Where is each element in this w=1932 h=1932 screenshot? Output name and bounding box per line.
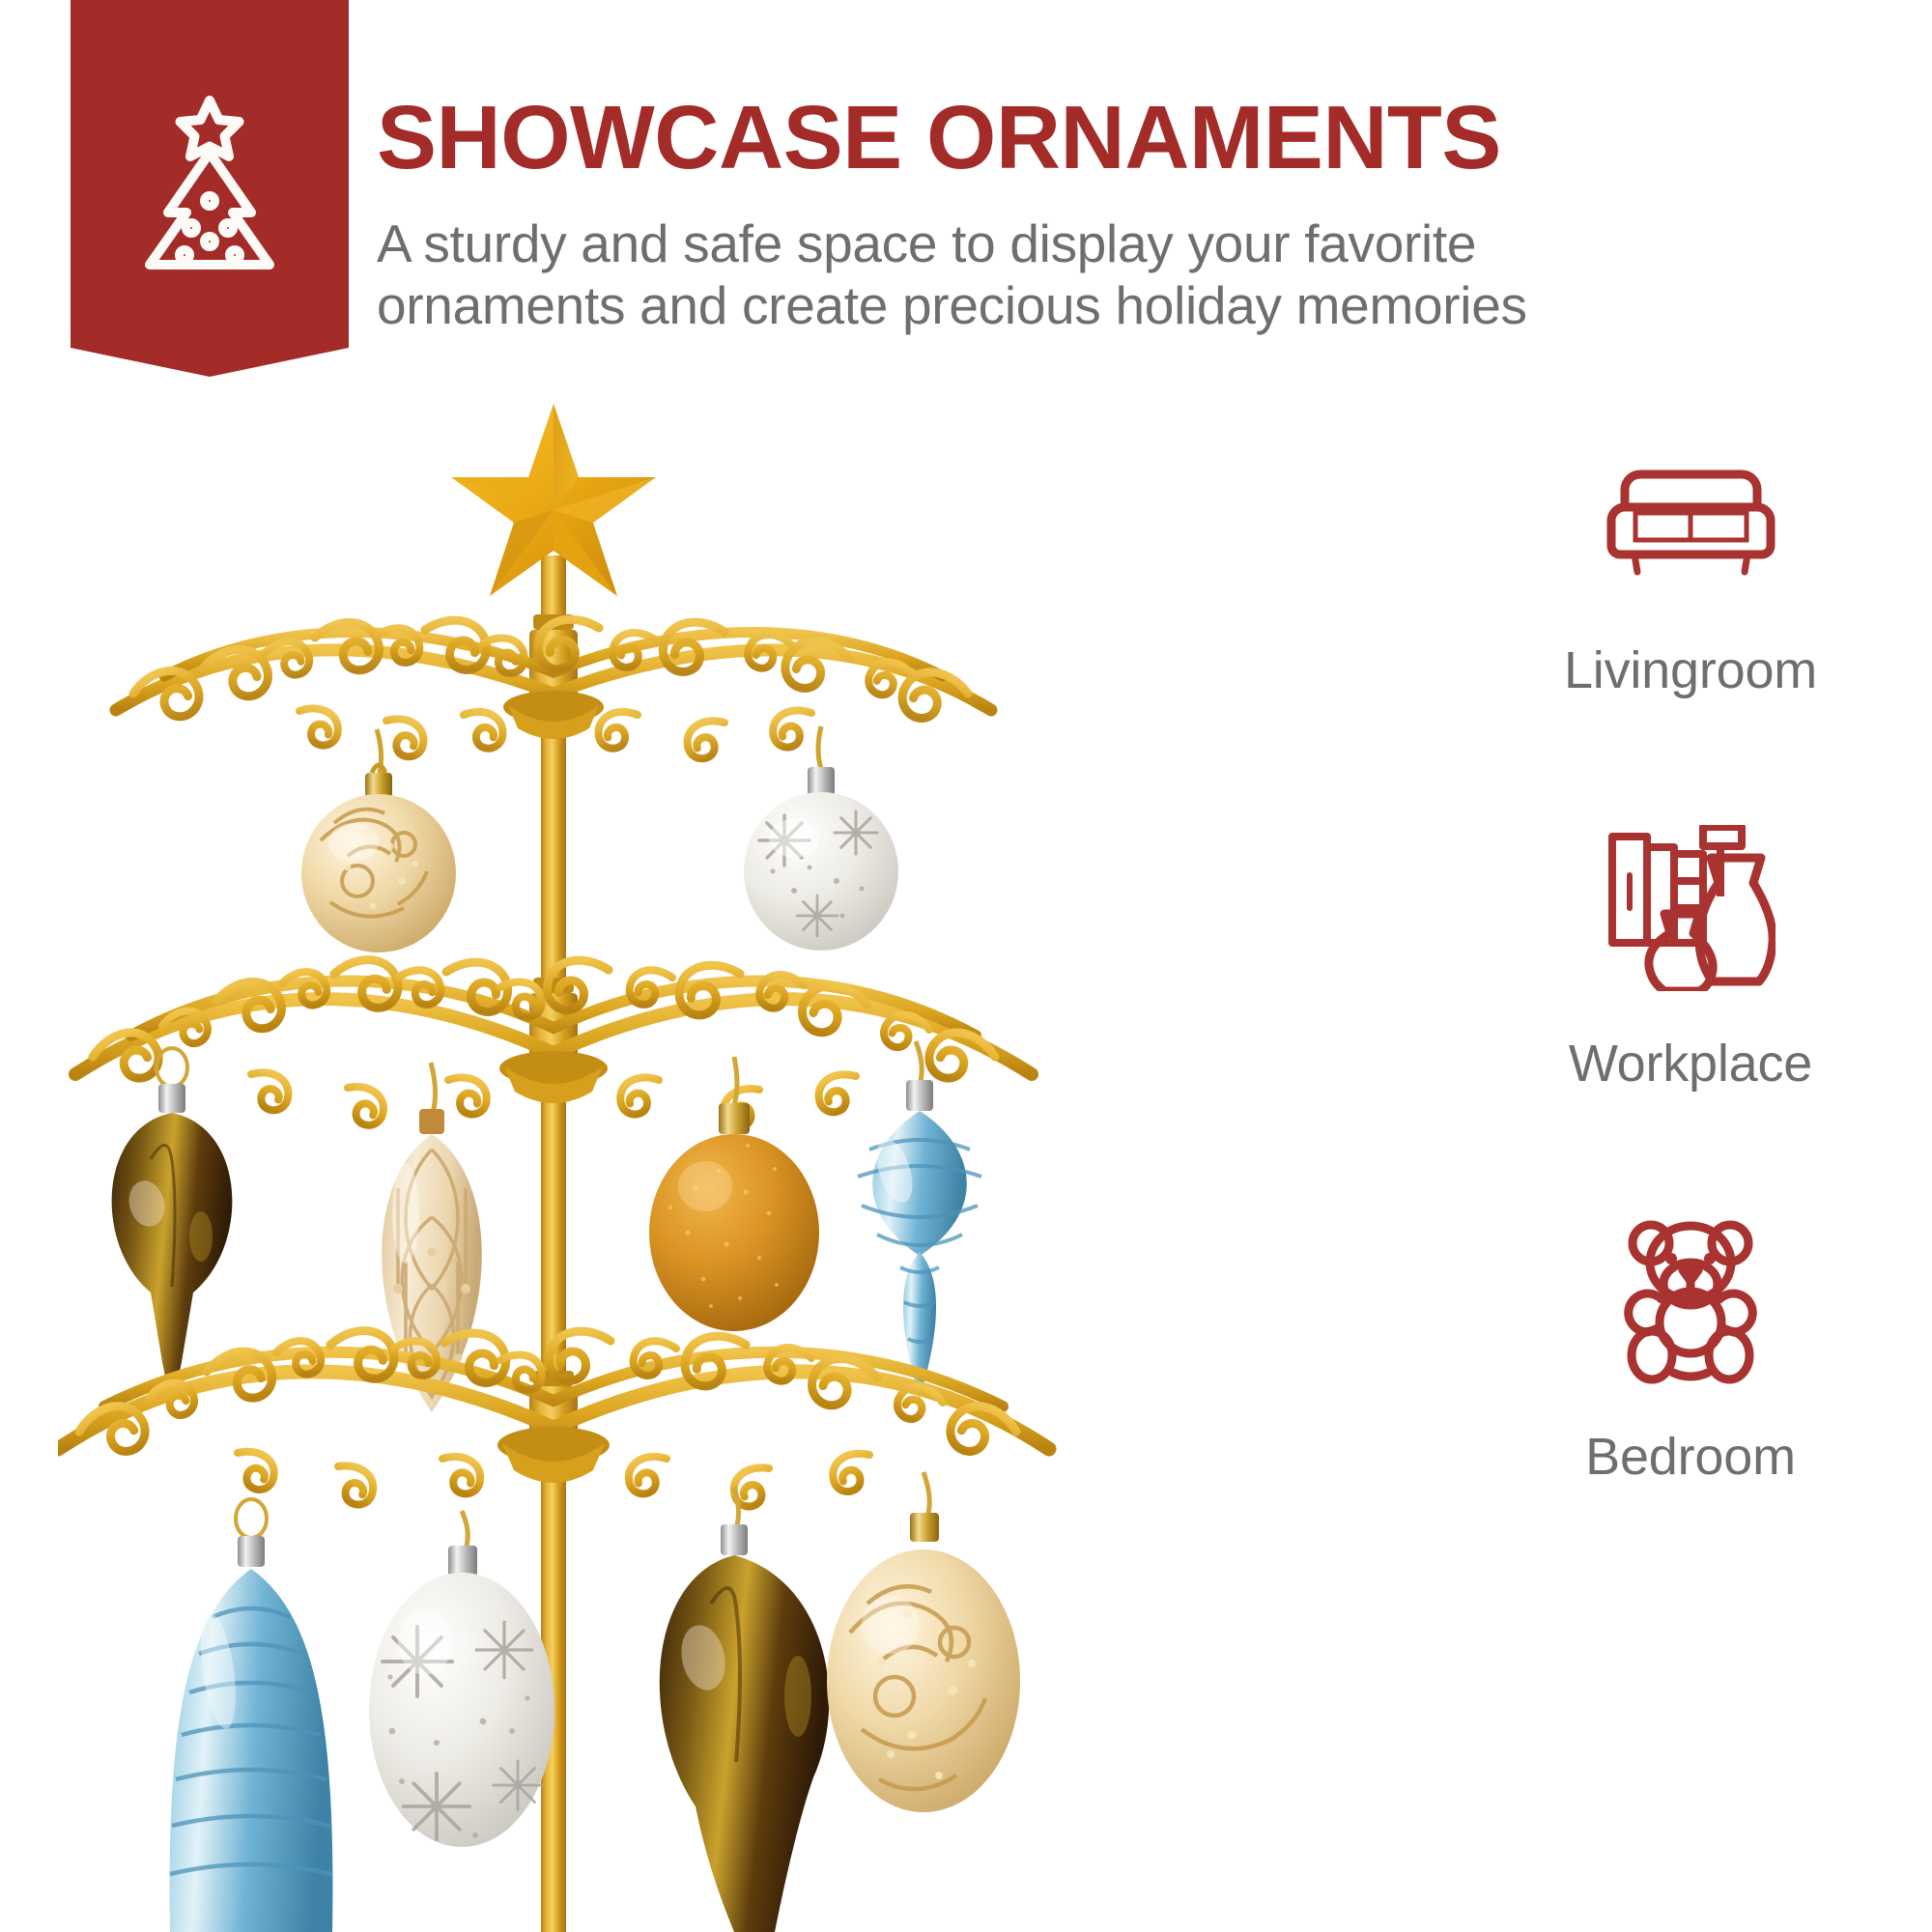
ornament-silver-starburst-ball-1: [744, 726, 898, 951]
sofa-icon: [1592, 447, 1790, 582]
ornament-silver-starburst-ball-2: [369, 1511, 554, 1847]
header-banner: SHOWCASE ORNAMENTS A sturdy and safe spa…: [0, 0, 1932, 386]
ornament-blue-ribbed-top-2: [170, 1499, 333, 1932]
header-text-block: SHOWCASE ORNAMENTS A sturdy and safe spa…: [377, 0, 1884, 337]
ornament-blue-ribbed-top-1: [858, 1041, 981, 1399]
christmas-tree-icon: [125, 93, 295, 286]
page-subtitle: A sturdy and safe space to display your …: [377, 213, 1884, 337]
product-image-ornament-display-tree: [58, 386, 1333, 1932]
ornament-gold-filigree-ball-1: [301, 729, 456, 952]
subtitle-line-1: A sturdy and safe space to display your …: [377, 213, 1884, 275]
ornament-gold-glitter-ball-1: [649, 1057, 819, 1331]
feature-icon-wrapper: [1488, 425, 1893, 604]
subtitle-line-2: ornaments and create precious holiday me…: [377, 275, 1884, 337]
teddy-bear-icon: [1623, 1218, 1758, 1384]
ornament-tree-illustration: [58, 386, 1333, 1932]
feature-label-workplace: Workplace: [1488, 1034, 1893, 1094]
ornament-amber-finial-drop-2: [660, 1488, 830, 1932]
feature-livingroom: Livingroom: [1488, 425, 1893, 700]
feature-workplace: Workplace: [1488, 818, 1893, 1094]
feature-label-bedroom: Bedroom: [1488, 1427, 1893, 1487]
bookshelf-vases-icon: [1606, 825, 1776, 991]
ribbon-badge: [71, 0, 349, 377]
feature-icon-wrapper: [1488, 1211, 1893, 1390]
feature-list: Livingroom Workplace: [1488, 425, 1893, 1487]
feature-icon-wrapper: [1488, 818, 1893, 997]
ornament-gold-filigree-ball-2: [827, 1472, 1020, 1812]
ornament-amber-finial-drop-1: [112, 1048, 233, 1410]
feature-bedroom: Bedroom: [1488, 1211, 1893, 1487]
feature-label-livingroom: Livingroom: [1488, 640, 1893, 700]
page-title: SHOWCASE ORNAMENTS: [377, 93, 1884, 183]
